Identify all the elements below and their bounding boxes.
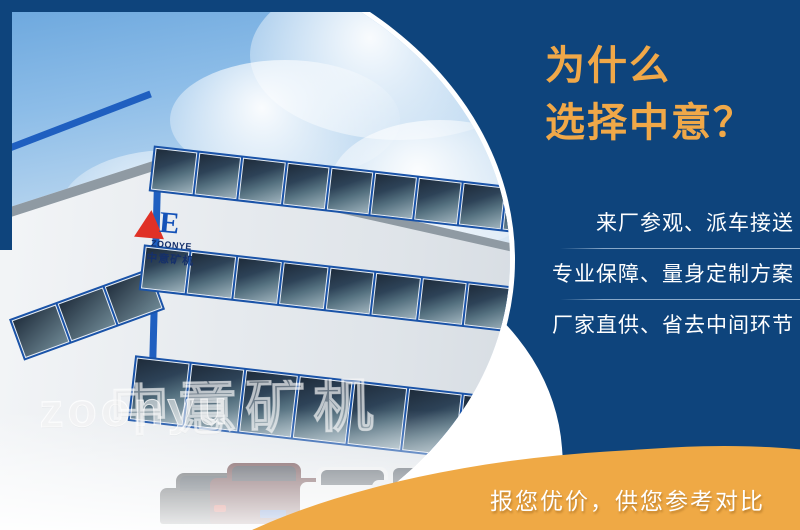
window-pane xyxy=(283,163,330,210)
window-pane xyxy=(279,262,328,309)
window-pane xyxy=(327,168,374,215)
top-edge-strip xyxy=(0,0,430,12)
window-pane xyxy=(233,257,282,304)
window-pane xyxy=(372,273,421,320)
list-item: 厂家直供、省去中间环节 xyxy=(530,300,800,350)
zoonye-logo: E ZOONYE 中意矿机 xyxy=(126,206,219,271)
window-pane xyxy=(415,178,462,225)
window-pane xyxy=(151,148,198,195)
ribbon-label: 报您优价，供您参考对比 xyxy=(455,482,800,516)
window-pane xyxy=(195,153,242,200)
window-pane xyxy=(418,278,467,325)
left-edge-strip xyxy=(0,0,12,250)
letter-e-icon: E xyxy=(158,209,180,239)
offer-ribbon: 报您优价，供您参考对比 xyxy=(0,420,800,530)
window-pane xyxy=(371,173,418,220)
window-pane xyxy=(458,183,505,230)
window-pane xyxy=(464,283,510,330)
why-choose-us-banner: E ZOONYE 中意矿机 xyxy=(0,0,800,530)
headline-line-2: 选择中意？ xyxy=(545,95,795,152)
headline-line-1: 为什么 xyxy=(545,38,795,95)
list-item: 来厂参观、派车接送 xyxy=(530,198,800,248)
window-pane xyxy=(239,158,286,205)
window-pane xyxy=(326,268,375,315)
page-title: 为什么 选择中意？ xyxy=(545,38,795,152)
benefits-list: 来厂参观、派车接送 专业保障、量身定制方案 厂家直供、省去中间环节 xyxy=(530,198,800,350)
list-item: 专业保障、量身定制方案 xyxy=(530,249,800,299)
